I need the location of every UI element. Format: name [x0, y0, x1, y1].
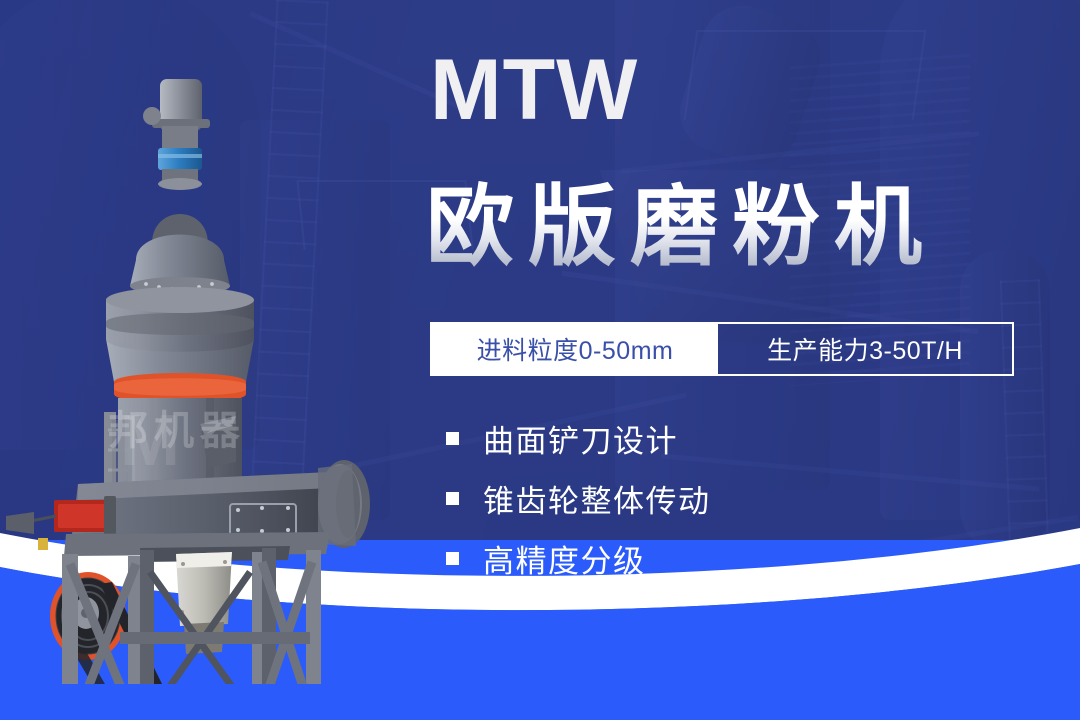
product-image [0, 64, 420, 684]
feature-label: 高精度分级 [483, 536, 646, 581]
feature-list: 曲面铲刀设计 锥齿轮整体传动 高精度分级 [430, 420, 850, 600]
spec-feed-size: 进料粒度0-50mm [432, 324, 718, 374]
list-item: 锥齿轮整体传动 [430, 480, 850, 516]
spec-row: 进料粒度0-50mm 生产能力3-50T/H [430, 322, 1014, 376]
spec-capacity: 生产能力3-50T/H [718, 324, 1012, 374]
list-item: 高精度分级 [430, 540, 850, 576]
banner-content: MTW 欧版磨粉机 进料粒度0-50mm 生产能力3-50T/H 曲面铲刀设计 … [424, 0, 1024, 640]
promo-banner: M 邦机器 MTW 欧版磨粉机 进料粒度0-50mm 生产能力3-50T/H 曲… [0, 0, 1080, 720]
square-bullet-icon [446, 432, 459, 445]
feature-label: 曲面铲刀设计 [483, 416, 678, 461]
feature-label: 锥齿轮整体传动 [483, 476, 711, 521]
square-bullet-icon [446, 552, 459, 565]
model-title: MTW [430, 47, 638, 133]
list-item: 曲面铲刀设计 [430, 420, 850, 456]
square-bullet-icon [446, 492, 459, 505]
product-title: 欧版磨粉机 [426, 178, 936, 277]
